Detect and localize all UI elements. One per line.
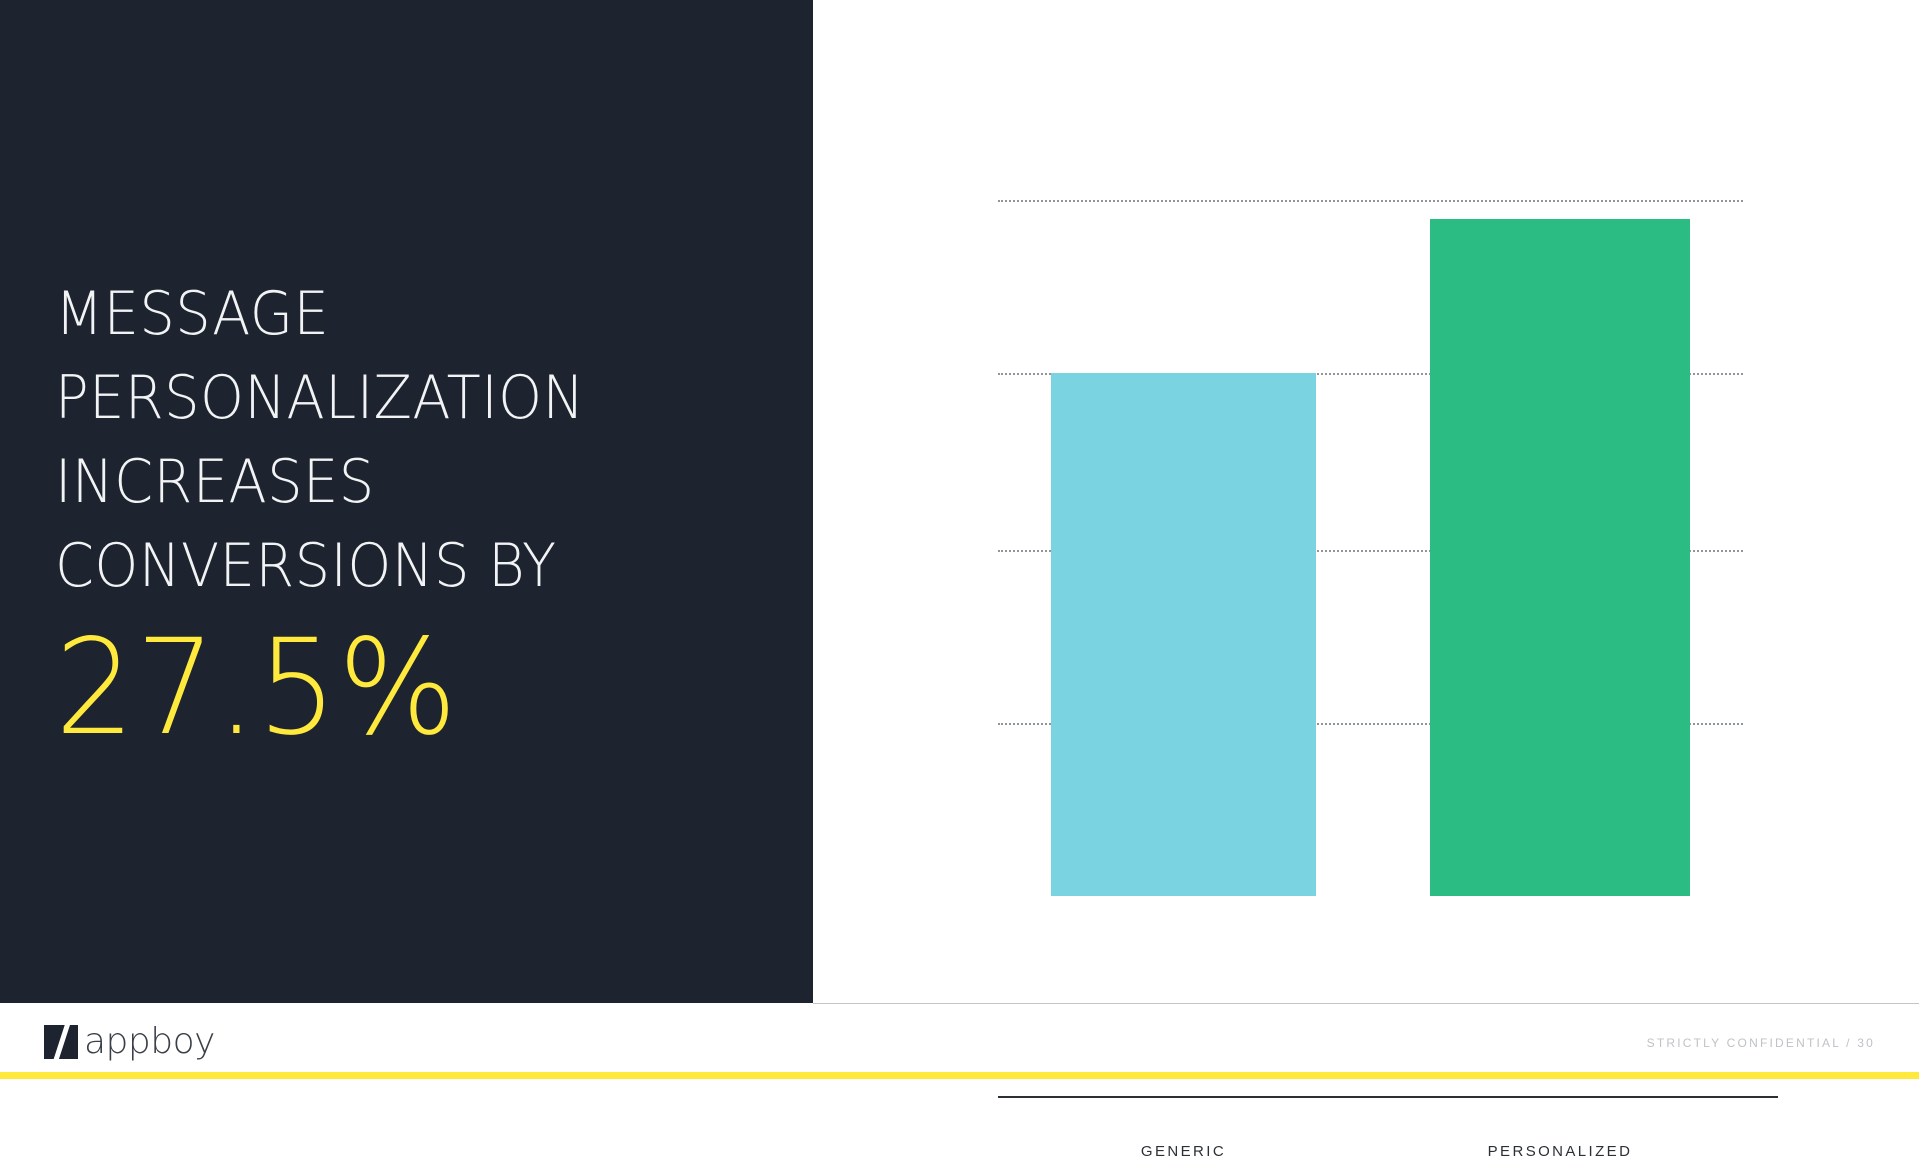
category-label-personalized: PERSONALIZED xyxy=(1430,1143,1690,1160)
headline-line-3: INCREASES xyxy=(55,440,743,524)
confidentiality-notice: STRICTLY CONFIDENTIAL / 30 xyxy=(1647,1036,1875,1050)
headline-line-4: CONVERSIONS BY xyxy=(55,524,743,608)
headline-line-2: PERSONALIZATION xyxy=(55,356,743,440)
footer-divider xyxy=(813,1003,1919,1004)
appboy-logo-mark-icon xyxy=(44,1025,78,1059)
footer: appboy STRICTLY CONFIDENTIAL / 30 xyxy=(0,1003,1919,1079)
stat-number: 27.5% xyxy=(55,622,758,754)
category-label-generic: GENERIC xyxy=(1051,1143,1316,1160)
bar-generic[interactable] xyxy=(1051,373,1316,896)
appboy-logo: appboy xyxy=(44,1025,215,1059)
bar-group xyxy=(998,200,1743,896)
headline-block: MESSAGE PERSONALIZATION INCREASES CONVER… xyxy=(55,272,795,754)
appboy-logo-wordmark: appboy xyxy=(84,1025,215,1059)
bottom-accent-bar xyxy=(0,1072,1919,1079)
chart-area: GENERIC PERSONALIZED xyxy=(813,0,1919,1003)
slide: MESSAGE PERSONALIZATION INCREASES CONVER… xyxy=(0,0,1919,1079)
bar-personalized[interactable] xyxy=(1430,219,1690,896)
headline-line-1: MESSAGE xyxy=(55,272,743,356)
x-axis-line xyxy=(998,1096,1778,1098)
category-labels: GENERIC PERSONALIZED xyxy=(998,1105,1778,1145)
bar-chart: GENERIC PERSONALIZED xyxy=(998,200,1743,896)
headline-panel: MESSAGE PERSONALIZATION INCREASES CONVER… xyxy=(0,0,813,1003)
